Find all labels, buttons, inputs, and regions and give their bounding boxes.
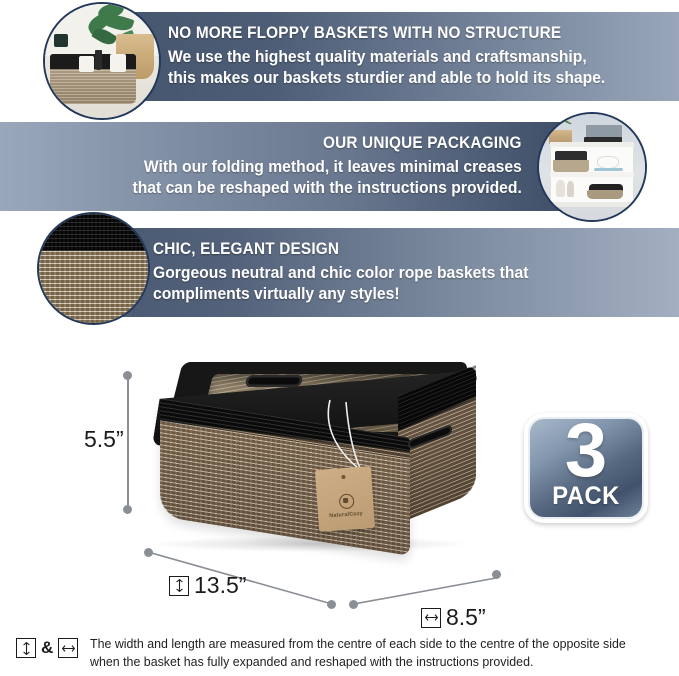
feature-photo-shelf-with-baskets <box>537 112 647 222</box>
vertical-arrow-icon-legend <box>16 638 36 658</box>
black-rope-band <box>39 214 148 251</box>
three-pack-badge: 3 PACK <box>524 413 648 523</box>
measurement-disclaimer: & The width and length are measured from… <box>0 636 679 676</box>
product-infographic: NO MORE FLOPPY BASKETS WITH NO STRUCTURE… <box>0 0 679 673</box>
width-dim-label: 8.5” <box>446 604 486 631</box>
photo-content-1 <box>45 4 159 118</box>
banner-body-line1-1: We use the highest quality materials and… <box>168 47 605 68</box>
feature-banner-chic-design: CHIC, ELEGANT DESIGN Gorgeous neutral an… <box>105 228 679 317</box>
feature-banner-no-structure: NO MORE FLOPPY BASKETS WITH NO STRUCTURE… <box>125 12 679 101</box>
banner-body-line1-3: Gorgeous neutral and chic color rope bas… <box>153 263 528 284</box>
footer-text-line2: when the basket has fully expanded and r… <box>90 654 626 672</box>
basket-handle-front <box>245 375 304 387</box>
banner-body-line2-3: compliments virtually any styles! <box>153 284 528 305</box>
tan-rope-band <box>39 251 148 323</box>
length-dim-label: 13.5” <box>194 572 246 599</box>
banner-text-block-2: OUR UNIQUE PACKAGING With our folding me… <box>112 122 522 211</box>
length-dim-dot-end <box>327 600 336 609</box>
banner-text-block-1: NO MORE FLOPPY BASKETS WITH NO STRUCTURE… <box>168 12 628 101</box>
height-dim-line <box>127 375 129 509</box>
banner-headline-2: OUR UNIQUE PACKAGING <box>323 134 522 153</box>
banner-body-line2-1: this makes our baskets sturdier and able… <box>168 68 605 89</box>
rope-storage-basket <box>150 362 480 557</box>
height-dim-label: 5.5” <box>84 426 124 453</box>
feature-photo-basket-with-plant <box>43 2 161 120</box>
banner-body-line2-2: that can be reshaped with the instructio… <box>133 178 522 199</box>
badge-label: PACK <box>533 482 639 511</box>
width-dim-label-row: 8.5” <box>421 604 486 631</box>
footer-text-line1: The width and length are measured from t… <box>90 636 626 654</box>
width-dim-dot-end <box>492 570 501 579</box>
vertical-arrow-icon <box>169 576 189 596</box>
badge-count: 3 <box>530 417 642 489</box>
horizontal-arrow-icon <box>421 608 441 628</box>
height-dim-dot-bottom <box>123 505 132 514</box>
footer-ampersand: & <box>41 638 53 658</box>
horizontal-arrow-icon-legend <box>58 638 78 658</box>
length-dim-label-row: 13.5” <box>169 572 246 599</box>
tag-hole <box>341 475 345 479</box>
banner-headline-1: NO MORE FLOPPY BASKETS WITH NO STRUCTURE <box>168 24 596 43</box>
photo-content-2 <box>539 114 645 220</box>
feature-banner-unique-packaging: OUR UNIQUE PACKAGING With our folding me… <box>0 122 564 211</box>
tag-brand-name: NaturalCozy <box>318 510 374 520</box>
badge-inner: 3 PACK <box>528 417 644 519</box>
shelf-unit <box>550 142 635 208</box>
banner-text-block-3: CHIC, ELEGANT DESIGN Gorgeous neutral an… <box>153 228 548 317</box>
photo-content-3 <box>39 214 148 323</box>
brand-logo-icon <box>338 493 354 509</box>
banner-body-line1-2: With our folding method, it leaves minim… <box>144 157 522 178</box>
footer-icon-legend: & <box>16 638 78 658</box>
brand-hang-tag: NaturalCozy <box>315 466 375 532</box>
footer-text: The width and length are measured from t… <box>90 636 626 672</box>
banner-headline-3: CHIC, ELEGANT DESIGN <box>153 240 521 259</box>
feature-photo-rope-texture <box>37 212 150 325</box>
